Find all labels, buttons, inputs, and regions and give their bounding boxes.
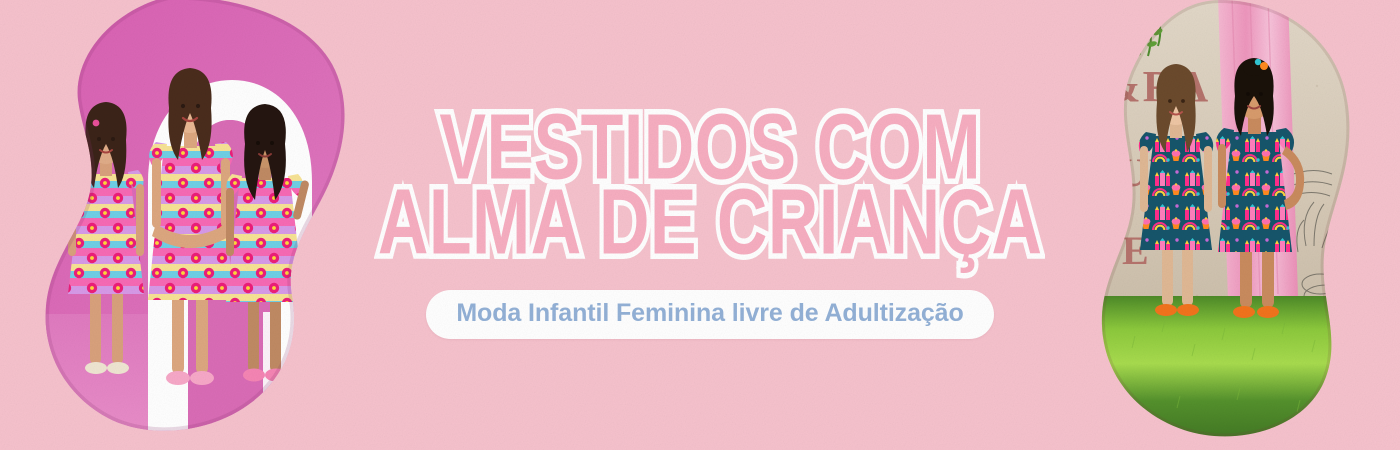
page-title: VESTIDOS COM ALMA DE CRIANÇA xyxy=(349,111,1071,261)
subtitle-pill: Moda Infantil Feminina livre de Adultiza… xyxy=(426,290,993,339)
promo-banner: VESTIDOS COM ALMA DE CRIANÇA Moda Infant… xyxy=(0,0,1400,450)
headline-line-2: ALMA DE CRIANÇA xyxy=(378,177,1043,268)
banner-copy: VESTIDOS COM ALMA DE CRIANÇA Moda Infant… xyxy=(360,0,1060,450)
right-photo: &RA UM E xyxy=(1092,0,1360,446)
subtitle-text: Moda Infantil Feminina livre de Adultiza… xyxy=(456,299,963,327)
left-photo xyxy=(20,0,350,440)
